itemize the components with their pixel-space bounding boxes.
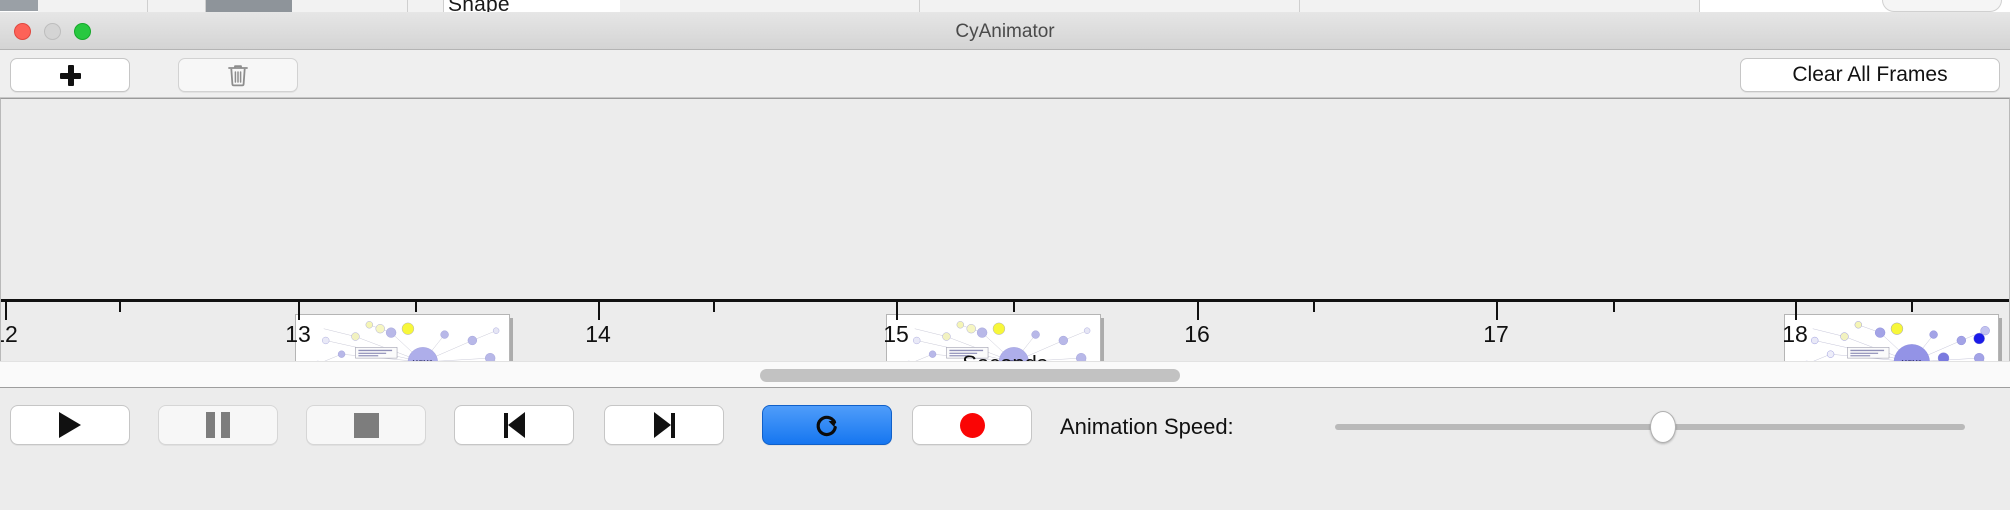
clear-all-frames-label: Clear All Frames	[1792, 63, 1947, 87]
bg-chip	[0, 0, 38, 11]
window-title: CyAnimator	[0, 21, 2010, 43]
scrollbar-thumb[interactable]	[760, 369, 1180, 382]
axis-tick	[1013, 302, 1015, 312]
axis-tick	[119, 302, 121, 312]
axis-title: Seconds	[1, 351, 2009, 361]
axis-tick	[1911, 302, 1913, 312]
axis-tick-label: 14	[585, 321, 611, 348]
record-icon	[960, 413, 985, 438]
pause-button[interactable]	[158, 405, 278, 445]
axis-tick-label: 15	[883, 321, 909, 348]
axis-line	[1, 299, 2009, 302]
axis-tick-label: 16	[1184, 321, 1210, 348]
playback-toolbar: Animation Speed:	[0, 388, 2010, 461]
stop-icon	[354, 413, 379, 438]
record-button[interactable]	[912, 405, 1032, 445]
pause-icon	[206, 412, 230, 438]
play-icon	[59, 412, 81, 438]
axis-tick	[415, 302, 417, 312]
bg-shape-label: Shape	[448, 0, 510, 12]
axis-tick	[1496, 302, 1498, 320]
axis-tick	[298, 302, 300, 320]
frames-track: MCM1	[1, 99, 2009, 299]
animation-speed-slider-thumb[interactable]	[1650, 411, 1676, 443]
axis-tick	[1613, 302, 1615, 312]
horizontal-scrollbar[interactable]	[0, 361, 2010, 388]
bg-chip	[292, 0, 408, 12]
skip-back-icon	[504, 412, 525, 438]
axis-tick-label: 13	[285, 321, 311, 348]
animation-speed-slider[interactable]	[1335, 424, 1965, 430]
stop-button[interactable]	[306, 405, 426, 445]
axis-tick	[1197, 302, 1199, 320]
bg-chip	[148, 0, 206, 12]
trash-icon	[227, 63, 249, 87]
axis-tick-label: 12	[0, 321, 18, 348]
bg-chip	[920, 0, 1300, 12]
plus-icon	[60, 65, 81, 86]
bg-chip	[1300, 0, 1700, 12]
skip-forward-icon	[654, 412, 675, 438]
bg-chip	[38, 0, 148, 12]
axis-tick-label: 18	[1782, 321, 1808, 348]
bg-chip	[206, 0, 292, 12]
toolbar: Clear All Frames	[0, 50, 2010, 98]
add-frame-button[interactable]	[10, 58, 130, 92]
timeline-axis: 12 13 14 15 16 17 18 Seconds	[1, 299, 2009, 361]
axis-tick	[896, 302, 898, 320]
timeline-panel[interactable]: MCM1	[0, 98, 2010, 361]
animation-speed-label: Animation Speed:	[1060, 414, 1234, 440]
axis-tick	[5, 302, 7, 320]
next-frame-button[interactable]	[604, 405, 724, 445]
axis-tick-label: 17	[1483, 321, 1509, 348]
axis-tick	[598, 302, 600, 320]
axis-tick	[1795, 302, 1797, 320]
axis-tick	[1313, 302, 1315, 312]
background-window-strip: Shape	[0, 0, 2010, 12]
bg-chip	[620, 0, 920, 12]
loop-button[interactable]	[762, 405, 892, 445]
titlebar: CyAnimator	[0, 12, 2010, 50]
loop-icon	[813, 411, 841, 439]
axis-tick	[713, 302, 715, 312]
delete-frame-button[interactable]	[178, 58, 298, 92]
bg-chip	[408, 0, 444, 12]
play-button[interactable]	[10, 405, 130, 445]
prev-frame-button[interactable]	[454, 405, 574, 445]
bg-rounded-control	[1882, 0, 2002, 12]
cyanimator-window: CyAnimator Clear All Frames	[0, 12, 2010, 510]
clear-all-frames-button[interactable]: Clear All Frames	[1740, 58, 2000, 92]
